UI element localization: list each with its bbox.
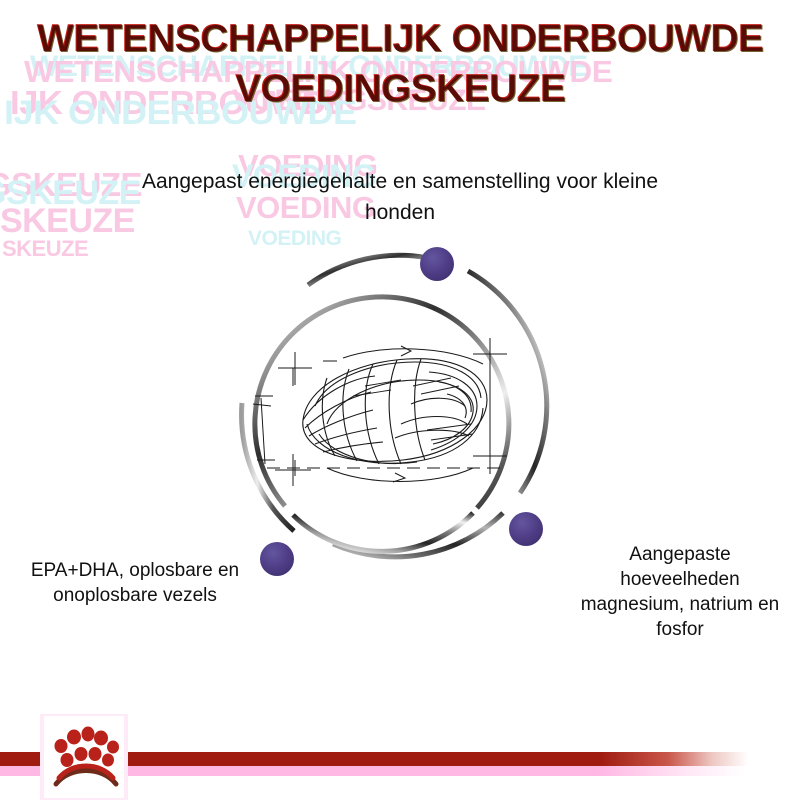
ghost-text-5: GSKEUZE (0, 168, 142, 201)
outer-arc-top (308, 255, 428, 285)
node-dot-top (420, 247, 454, 281)
callout-right-minerals: Aangepaste hoeveelheden magnesium, natri… (568, 542, 792, 642)
page-title-line-1-aberration: WETENSCHAPPELIJK ONDERBOUWDE (1, 15, 800, 65)
infographic-canvas: WETENSCHAPPELIJK ONDERBOUWDEWETENSCHAPPE… (0, 0, 800, 800)
node-dot-bottom-left (260, 542, 294, 576)
royal-canin-crown-logo (44, 716, 124, 798)
page-title-line-1: WETENSCHAPPELIJK ONDERBOUWDE WETENSCHAPP… (0, 14, 800, 64)
inner-arc-bottom (293, 513, 473, 551)
kibble-diagram (215, 228, 565, 578)
dimension-marks (253, 338, 507, 486)
crown-dots-top-row (55, 727, 120, 754)
node-dot-bottom-right (509, 512, 543, 546)
kibble-sketch (253, 338, 507, 486)
outer-arc-left (242, 403, 294, 531)
page-title: WETENSCHAPPELIJK ONDERBOUWDE WETENSCHAPP… (0, 14, 800, 114)
outer-arc-right (468, 271, 547, 493)
ghost-text-9: GSKEUZE (0, 204, 135, 238)
ghost-text-6: GSKEUZE (0, 176, 141, 210)
outer-ring-arcs (242, 255, 547, 557)
subtitle: Aangepast energiegehalte en samenstellin… (130, 166, 670, 228)
page-title-line-2-aberration: VOEDINGSKEUZE (1, 65, 800, 115)
callout-left-fibers: EPA+DHA, oplosbare en onoplosbare vezels (10, 558, 260, 608)
ghost-text-11: SKEUZE (2, 238, 88, 260)
page-title-line-2: VOEDINGSKEUZE VOEDINGSKEUZE (0, 64, 800, 114)
